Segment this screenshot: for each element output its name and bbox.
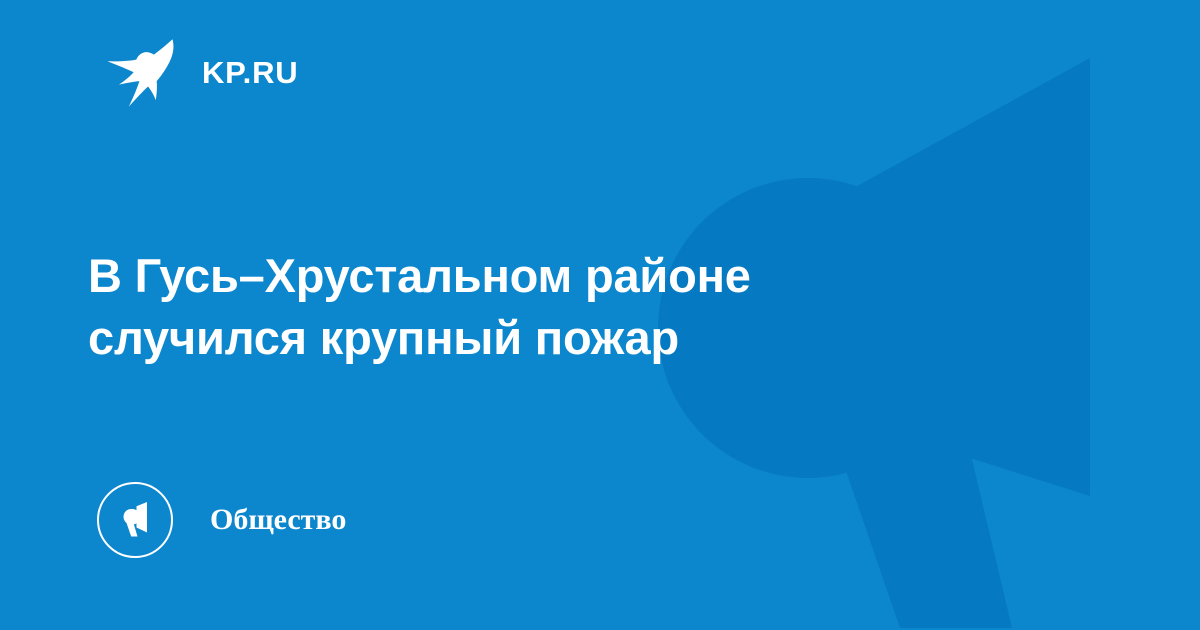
share-card: KP.RU В Гусь–Хрустальном районе случился…: [0, 0, 1200, 630]
megaphone-icon: [114, 499, 156, 541]
category-icon-circle: [97, 482, 173, 558]
headline-line-1: В Гусь–Хрустальном районе: [88, 245, 988, 307]
category-badge[interactable]: Общество: [97, 480, 346, 560]
swallow-bird-icon: [104, 36, 178, 108]
category-label: Общество: [210, 505, 346, 535]
brand-logo-row[interactable]: KP.RU: [104, 36, 298, 108]
headline: В Гусь–Хрустальном районе случился крупн…: [88, 245, 988, 369]
headline-line-2: случился крупный пожар: [88, 307, 988, 369]
brand-wordmark: KP.RU: [202, 57, 298, 88]
